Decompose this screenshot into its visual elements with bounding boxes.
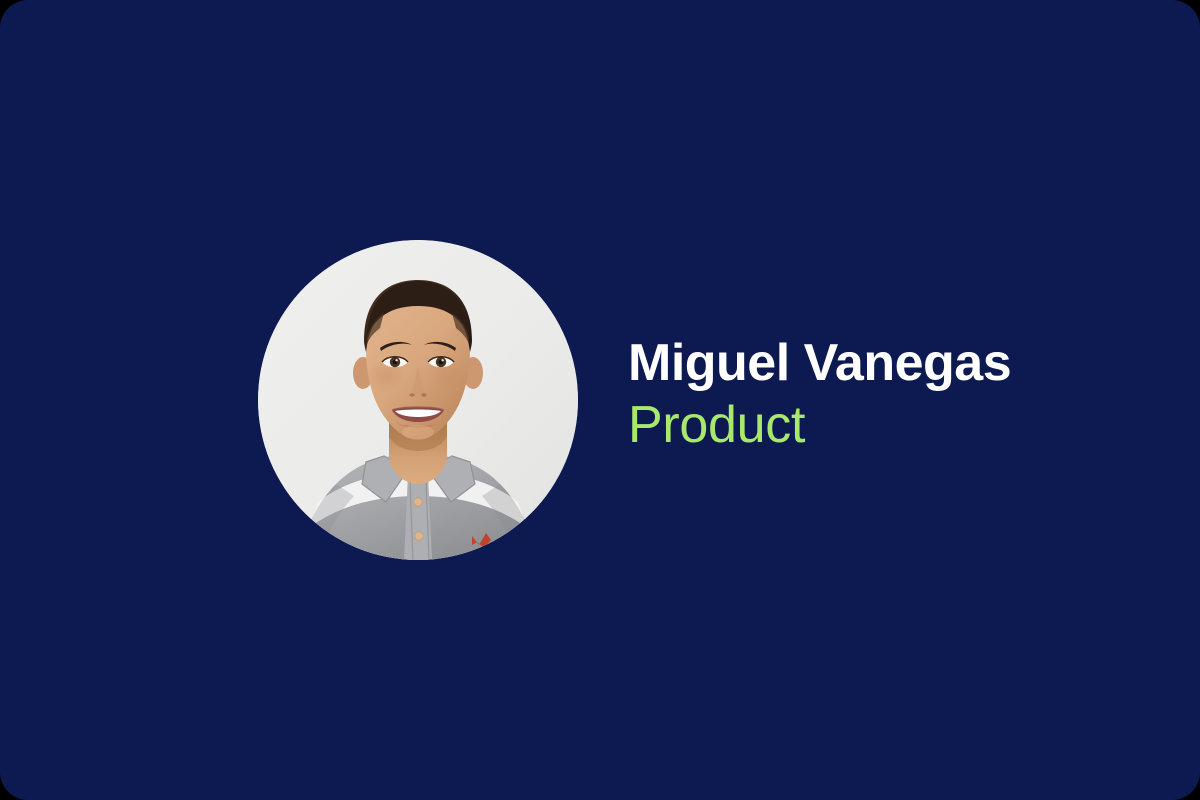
person-portrait-photo: [258, 240, 578, 560]
identity-block: Miguel Vanegas Product: [628, 336, 1148, 452]
person-role: Product: [628, 398, 1148, 452]
avatar: [258, 240, 578, 560]
profile-card: Miguel Vanegas Product: [0, 0, 1200, 800]
person-name: Miguel Vanegas: [628, 336, 1148, 390]
shirt-placket: [404, 474, 432, 560]
